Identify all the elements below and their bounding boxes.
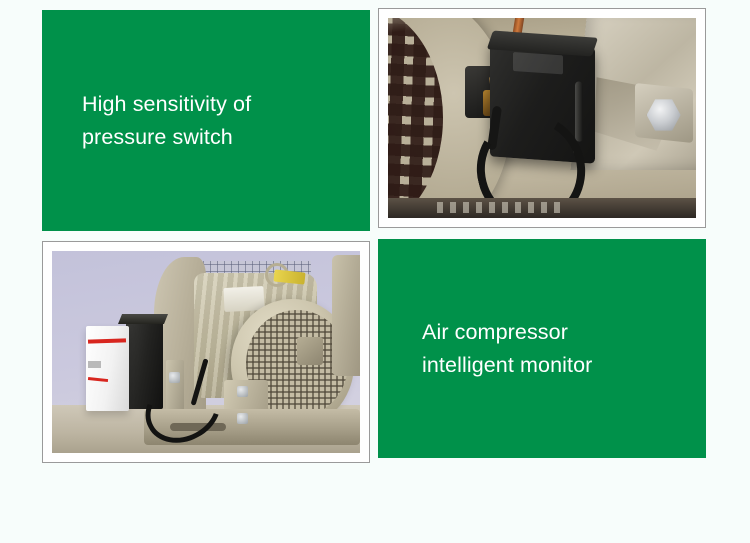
photo-frame-pressure-switch bbox=[378, 8, 706, 228]
monitor-red-stripe-bottom bbox=[87, 377, 107, 382]
base-label-glyphs bbox=[437, 202, 560, 213]
product-feature-grid: High sensitivity of pressure switch bbox=[0, 0, 750, 543]
monitor-display-slot bbox=[88, 361, 101, 368]
intelligent-monitor-unit bbox=[86, 326, 129, 411]
photo-frame-intelligent-monitor bbox=[42, 241, 370, 463]
vent-grille bbox=[388, 18, 443, 218]
bolt-b bbox=[237, 386, 248, 397]
caption-text-pressure-switch: High sensitivity of pressure switch bbox=[82, 88, 251, 154]
photo-pressure-switch bbox=[388, 18, 696, 218]
switch-lever bbox=[574, 81, 582, 142]
monitor-top-cap bbox=[118, 314, 168, 324]
base-label-strip bbox=[388, 198, 696, 218]
bolt-c bbox=[237, 413, 248, 424]
photo-intelligent-monitor bbox=[52, 251, 360, 453]
caption-text-intelligent-monitor: Air compressor intelligent monitor bbox=[422, 316, 592, 382]
switch-label-plate bbox=[513, 52, 563, 74]
tank-edge bbox=[332, 255, 360, 376]
monitor-red-stripe-top bbox=[88, 339, 126, 345]
caption-panel-pressure-switch: High sensitivity of pressure switch bbox=[42, 10, 370, 231]
bolt-a bbox=[169, 372, 180, 383]
caption-panel-intelligent-monitor: Air compressor intelligent monitor bbox=[378, 239, 706, 458]
